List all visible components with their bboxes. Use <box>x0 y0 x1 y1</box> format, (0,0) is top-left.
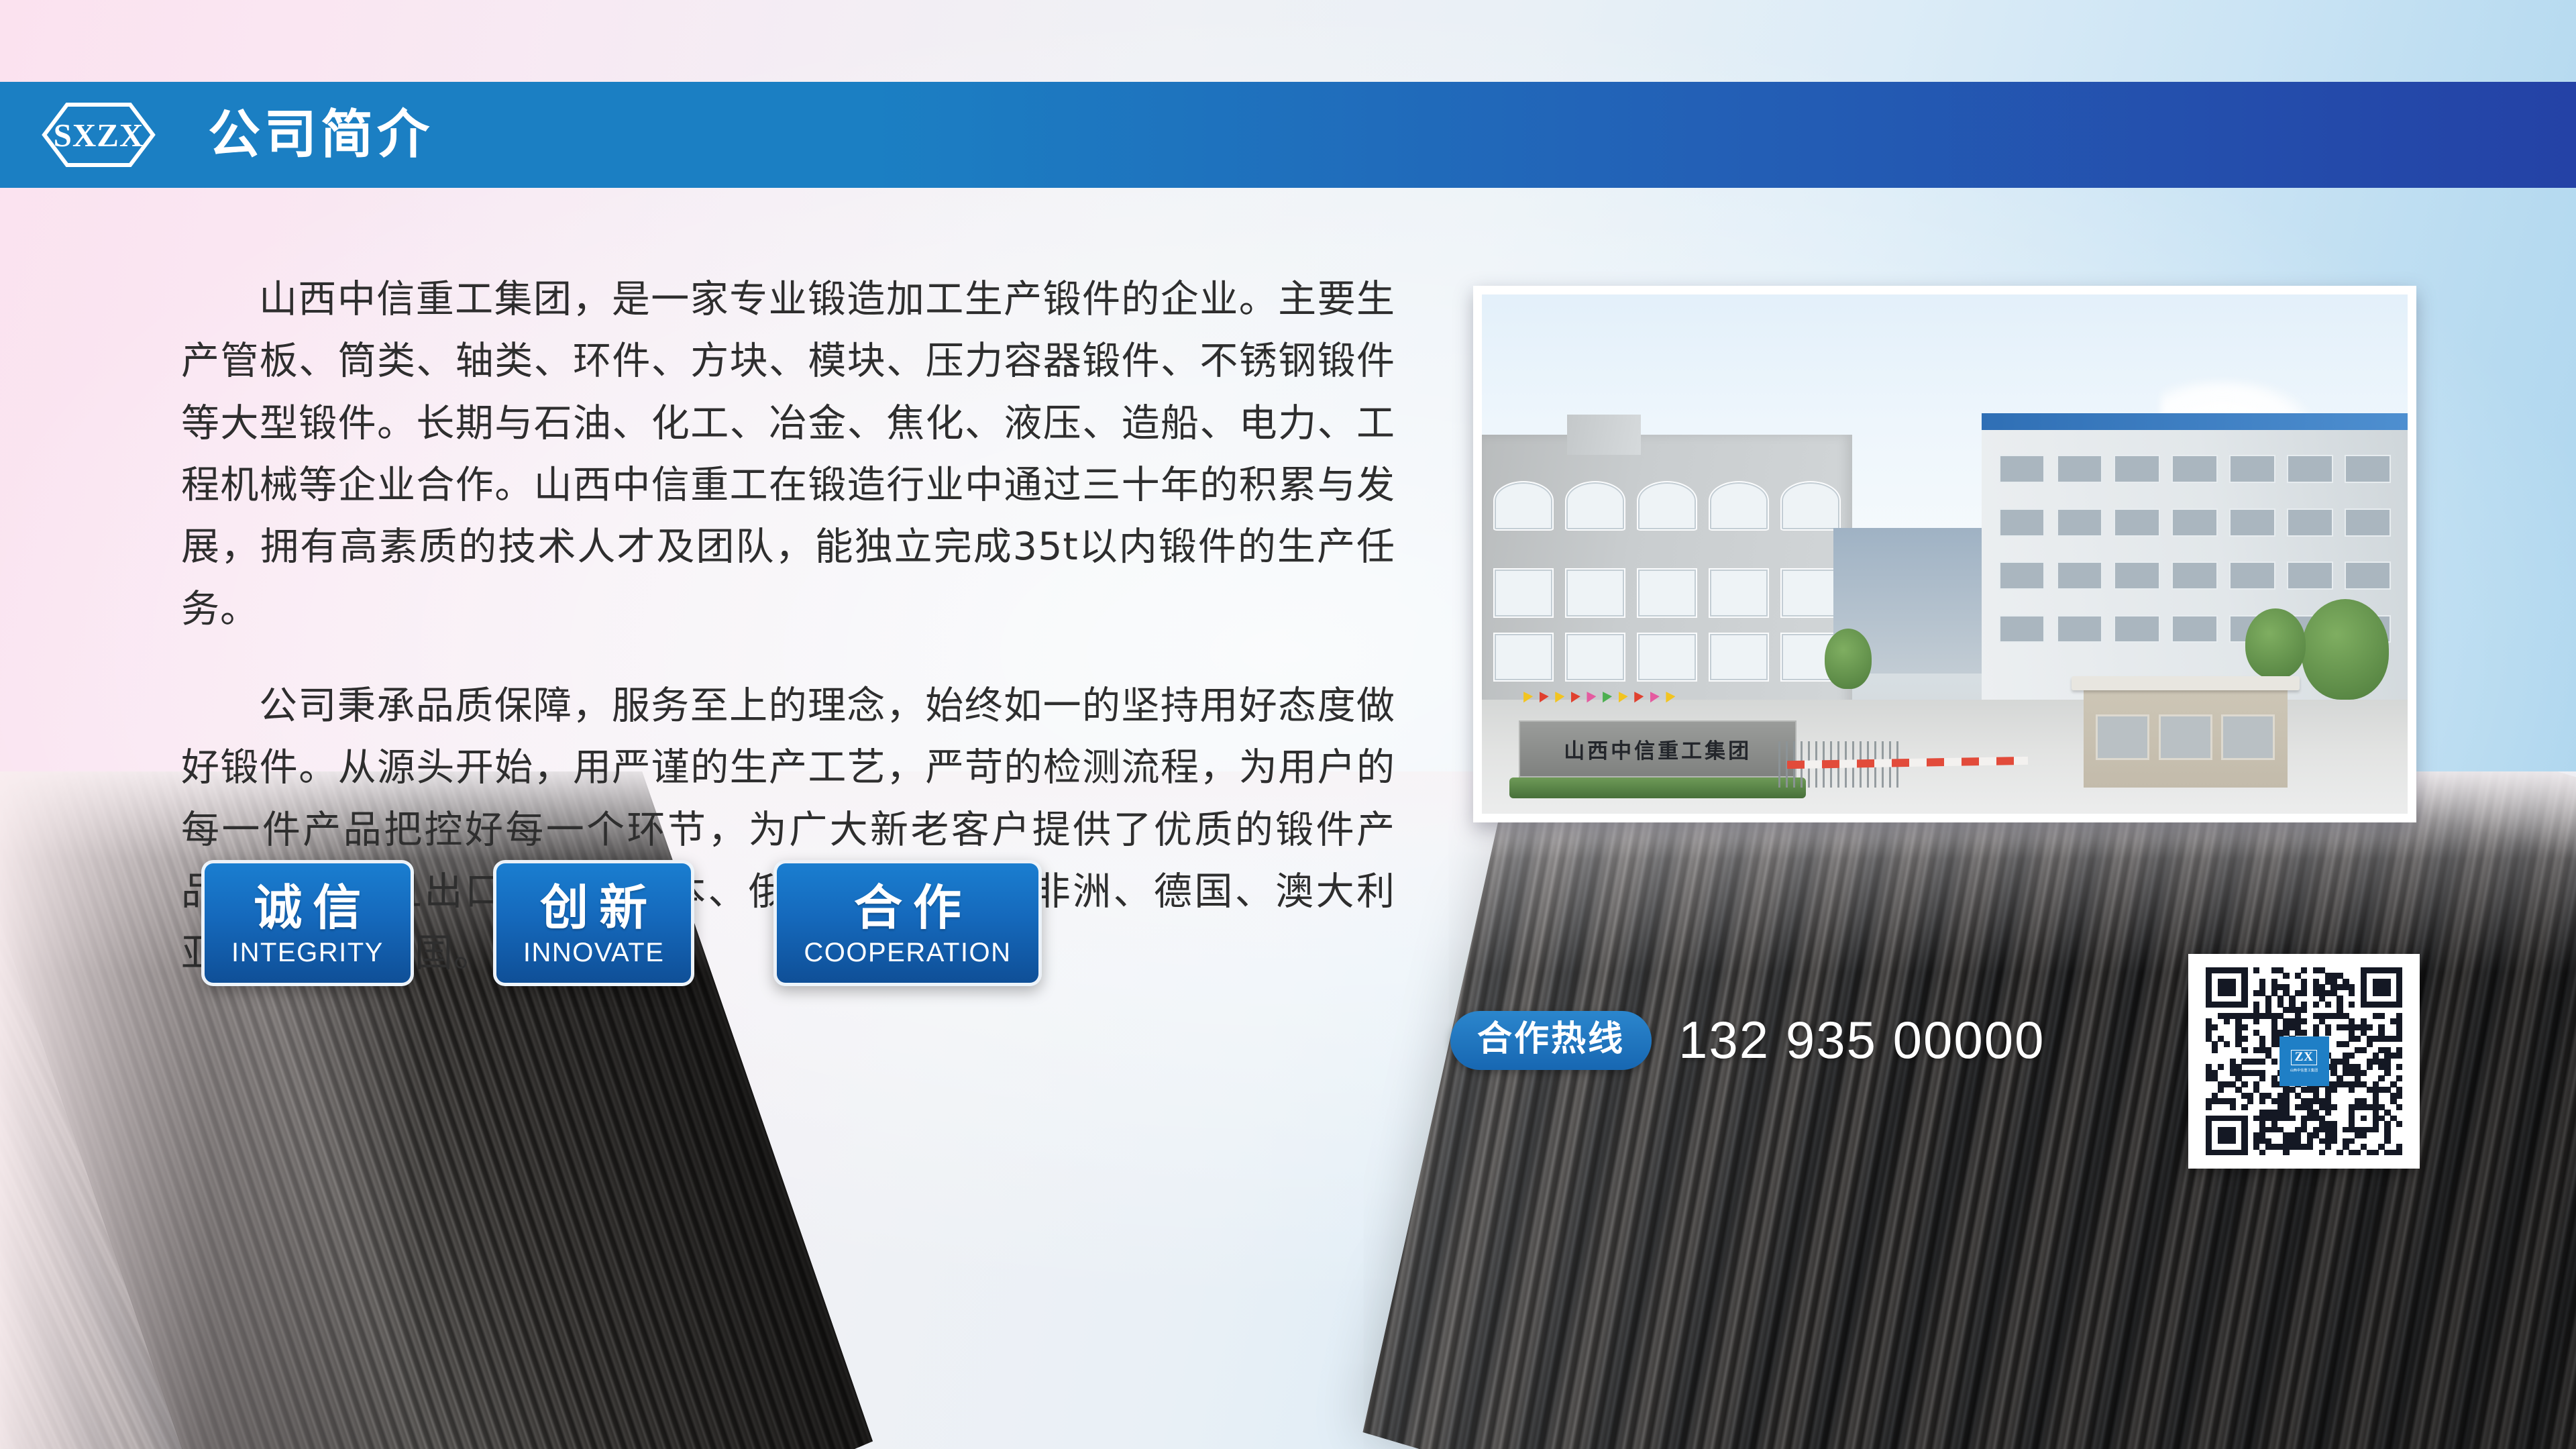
logo-text: SXZX <box>54 116 144 154</box>
value-badge-en: COOPERATION <box>804 938 1011 968</box>
value-badge-integrity[interactable]: 诚信 INTEGRITY <box>201 860 414 986</box>
photo-tree <box>2245 608 2306 679</box>
hexagon-badge-icon: SXZX <box>42 102 156 168</box>
paragraph-1: 山西中信重工集团，是一家专业锻造加工生产锻件的企业。主要生产管板、筒类、轴类、环… <box>181 268 1395 640</box>
photo-company-sign: 山西中信重工集团 <box>1519 720 1796 777</box>
photo-window-row <box>1493 481 1841 531</box>
hotline-number[interactable]: 132 935 00000 <box>1678 1010 2045 1071</box>
value-badge-cn: 创新 <box>523 881 676 935</box>
wechat-qr-code[interactable]: ZX 山西中信重工集团 <box>2188 954 2420 1169</box>
page-title: 公司简介 <box>208 109 433 161</box>
factory-gate-photograph: 山西中信重工集团 <box>1482 294 2408 814</box>
photo-guard-house <box>2084 689 2288 788</box>
photo-window-row <box>1493 568 1841 618</box>
photo-blue-roof <box>1982 413 2408 430</box>
photo-guard-house-windows <box>2096 714 2275 760</box>
photo-building-tier <box>1567 415 1641 455</box>
qr-logo-text: ZX <box>2291 1050 2317 1065</box>
photo-window-row <box>1999 561 2391 590</box>
qr-logo-subtext: 山西中信重工集团 <box>2290 1068 2318 1073</box>
core-values-row: 诚信 INTEGRITY 创新 INNOVATE 合作 COOPERATION <box>201 860 1042 986</box>
photo-window-row <box>1493 633 1841 682</box>
value-badge-cn: 合作 <box>804 881 1022 935</box>
photo-tree <box>2302 599 2389 700</box>
photo-company-sign-text: 山西中信重工集团 <box>1564 734 1752 764</box>
photo-hedge <box>1509 777 1806 798</box>
photo-guard-house-roof <box>2072 676 2300 690</box>
value-badge-cn: 诚信 <box>231 881 394 935</box>
qr-center-logo: ZX 山西中信重工集团 <box>2279 1036 2329 1086</box>
value-badge-innovate[interactable]: 创新 INNOVATE <box>493 860 695 986</box>
photo-left-office-building <box>1482 435 1852 725</box>
hotline-label: 合作热线 <box>1450 1011 1652 1070</box>
photo-window-row <box>1999 508 2391 537</box>
hotline-block: 合作热线 132 935 00000 <box>1450 1010 2045 1071</box>
value-badge-en: INTEGRITY <box>231 938 384 968</box>
photo-window-row <box>1999 455 2391 483</box>
factory-photo-frame: 山西中信重工集团 <box>1473 286 2416 822</box>
value-badge-cooperation[interactable]: 合作 COOPERATION <box>773 860 1041 986</box>
photo-tree <box>1825 629 1872 689</box>
header-banner: SXZX 公司简介 <box>0 82 2576 188</box>
value-badge-en: INNOVATE <box>523 938 665 968</box>
photo-flag-row <box>1523 692 1792 718</box>
poster-page: SXZX 公司简介 山西中信重工集团，是一家专业锻造加工生产锻件的企业。主要生产… <box>0 0 2576 1449</box>
